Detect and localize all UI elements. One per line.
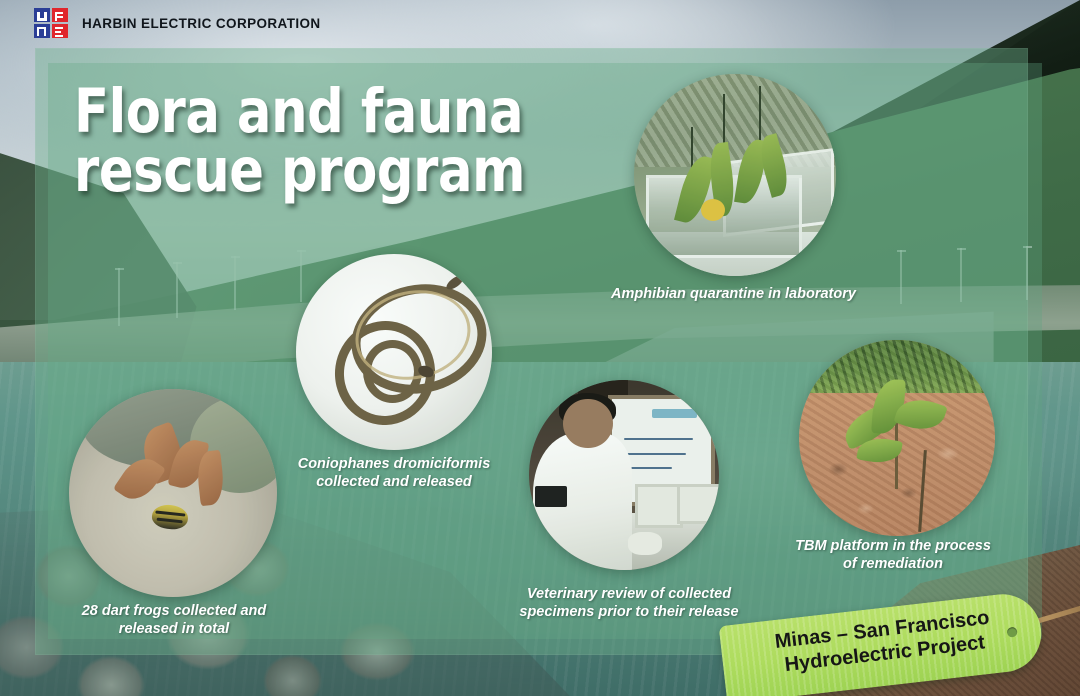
- photo-tint: [799, 340, 995, 536]
- dart-frogs-photo[interactable]: [69, 389, 277, 597]
- snake-caption: Coniophanes dromiciformis collected and …: [282, 455, 506, 491]
- header-bar: HARBIN ELECTRIC CORPORATION: [0, 0, 1080, 46]
- amphibian-quarantine-caption: Amphibian quarantine in laboratory: [611, 285, 901, 303]
- photo-tint: [69, 389, 277, 597]
- tbm-platform-photo[interactable]: [799, 340, 995, 536]
- harbin-electric-logo-icon: [34, 8, 68, 38]
- veterinary-review-caption: Veterinary review of collected specimens…: [497, 585, 761, 621]
- veterinary-review-photo[interactable]: [529, 380, 719, 570]
- page-title: Flora and fauna rescue program: [74, 82, 544, 200]
- snake-photo[interactable]: [296, 254, 492, 450]
- slide-canvas: HARBIN ELECTRIC CORPORATION Flora and fa…: [0, 0, 1080, 696]
- photo-tint: [296, 254, 492, 450]
- dart-frogs-caption: 28 dart frogs collected and released in …: [55, 602, 293, 638]
- photo-tint: [529, 380, 719, 570]
- brand-name: HARBIN ELECTRIC CORPORATION: [82, 16, 321, 31]
- tbm-platform-caption: TBM platform in the process of remediati…: [771, 537, 1015, 573]
- photo-tint: [634, 74, 836, 276]
- amphibian-quarantine-photo[interactable]: [634, 74, 836, 276]
